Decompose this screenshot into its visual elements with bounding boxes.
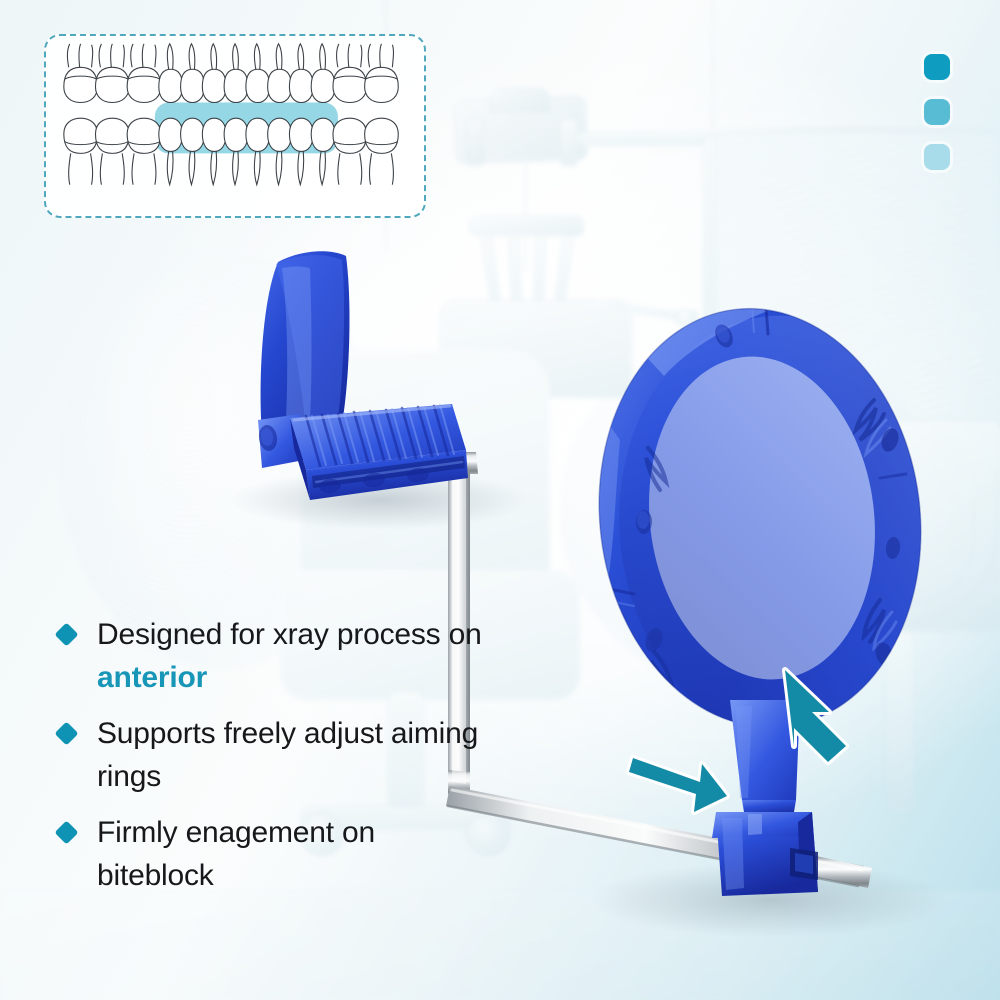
feature-item-freely-adjust-rings: Supports freely adjust aiming rings xyxy=(58,713,488,798)
feature-text: Firmly enagement on biteblock xyxy=(97,812,488,897)
feature-text-before: Designed for xray process on xyxy=(97,618,482,651)
feature-item-designed-for-xray: Designed for xray process on anterior xyxy=(58,614,488,699)
bite-block-assembly xyxy=(257,251,468,500)
aiming-ring xyxy=(576,290,985,764)
feature-item-firm-engagement: Firmly enagement on biteblock xyxy=(58,812,488,897)
bullet-diamond-icon xyxy=(54,722,78,746)
feature-list: Designed for xray process on anterior Su… xyxy=(58,614,488,912)
feature-text: Designed for xray process on anterior xyxy=(97,614,488,699)
ring-connector-block xyxy=(712,812,818,896)
feature-text: Supports freely adjust aiming rings xyxy=(97,713,488,798)
feature-text-before: Supports freely adjust aiming rings xyxy=(97,717,478,793)
feature-text-before: Firmly enagement on biteblock xyxy=(97,816,375,892)
product-image-canvas: Designed for xray process on anterior Su… xyxy=(0,0,1000,1000)
bullet-diamond-icon xyxy=(54,821,78,845)
arrow-to-indicator-arm xyxy=(629,758,727,812)
bullet-diamond-icon xyxy=(54,622,78,646)
feature-text-highlight: anterior xyxy=(97,661,207,694)
